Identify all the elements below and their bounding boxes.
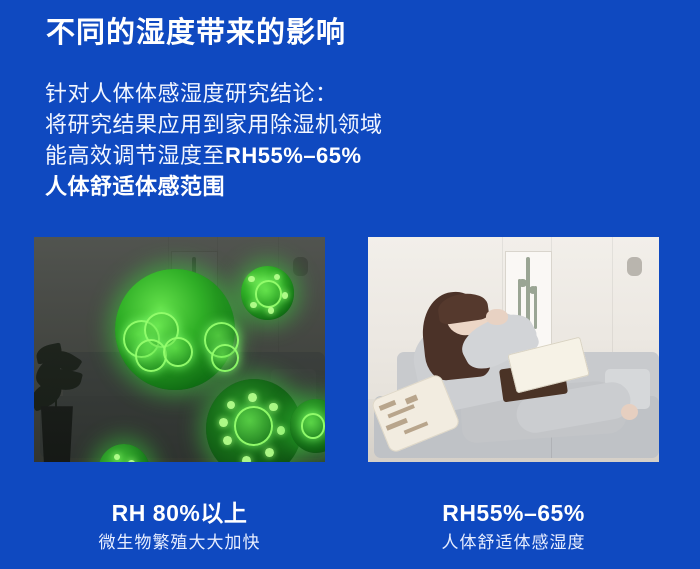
infographic-page: 不同的湿度带来的影响 针对人体体感湿度研究结论： 将研究结果应用到家用除湿机领域… <box>0 0 700 569</box>
body-line-3: 能高效调节湿度至RH55%–65% <box>45 140 383 171</box>
woman-reading <box>385 282 635 449</box>
body-line-4: 人体舒适体感范围 <box>45 171 383 202</box>
page-title: 不同的湿度带来的影响 <box>46 16 346 51</box>
caption-high-humidity: RH 80%以上 微生物繁殖大大加快 <box>34 498 325 556</box>
caption-comfort-humidity: RH55%–65% 人体舒适体感湿度 <box>368 498 659 556</box>
wall-knob-icon <box>627 257 642 276</box>
scene-dark-room <box>34 237 325 462</box>
caption-sub: 微生物繁殖大大加快 <box>34 530 325 556</box>
caption-main: RH55%–65% <box>368 498 659 528</box>
caption-main: RH 80%以上 <box>34 498 325 528</box>
body-line-3-bold: RH55%–65% <box>225 143 362 168</box>
scene-bright-room <box>368 237 659 462</box>
body-copy: 针对人体体感湿度研究结论： 将研究结果应用到家用除湿机领域 能高效调节湿度至RH… <box>45 78 383 202</box>
body-line-2: 将研究结果应用到家用除湿机领域 <box>45 109 383 140</box>
caption-sub: 人体舒适体感湿度 <box>368 530 659 556</box>
body-line-3-regular: 能高效调节湿度至 <box>45 143 225 168</box>
image-comfort-humidity <box>368 237 659 462</box>
germ-icon <box>115 269 234 391</box>
body-line-1: 针对人体体感湿度研究结论： <box>45 78 383 109</box>
image-high-humidity <box>34 237 325 462</box>
